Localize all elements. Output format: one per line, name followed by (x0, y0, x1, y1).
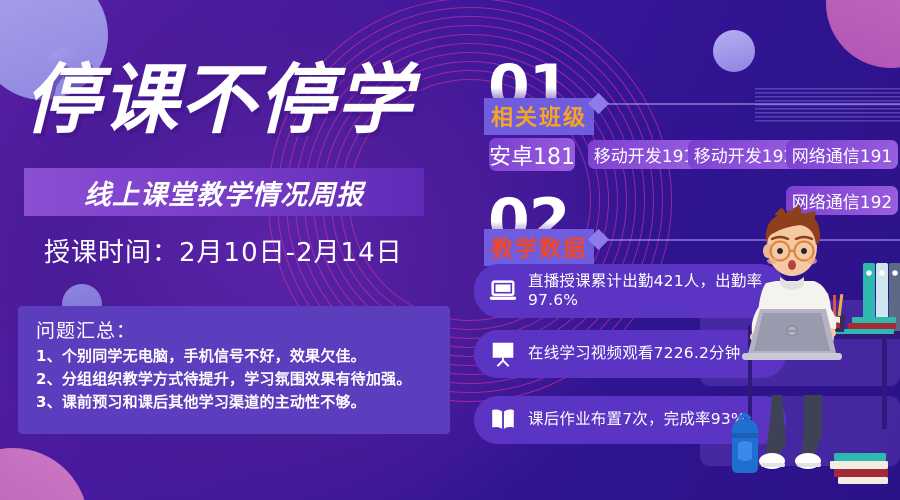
problem-summary-heading: 问题汇总： (36, 316, 434, 343)
divider-line-01 (608, 103, 900, 105)
metric-text: 课后作业布置7次，完成率93% (528, 410, 746, 429)
list-item: 1、个别同学无电脑，手机信号不好，效果欠佳。 (36, 345, 434, 368)
metric-text: 在线学习视频观看7226.2分钟 (528, 344, 740, 363)
projector-screen-icon (488, 339, 518, 369)
list-item: 2、分组组织教学方式待提升，学习氛围效果有待加强。 (36, 368, 434, 391)
circle-decoration-bottom-left-pink (0, 448, 88, 500)
section-label-02: 教学数据 (484, 229, 594, 266)
date-range-text: 授课时间：2月10日-2月14日 (44, 232, 403, 269)
poster-canvas: 停课不停学 线上课堂教学情况周报 授课时间：2月10日-2月14日 问题汇总： … (0, 0, 900, 500)
class-tag[interactable]: 网络通信191 (786, 140, 898, 169)
student-at-desk-illustration (730, 205, 900, 500)
list-item: 3、课前预习和课后其他学习渠道的主动性不够。 (36, 391, 434, 414)
class-tag[interactable]: 移动开发192 (688, 140, 800, 169)
circle-decoration-top-right (713, 30, 755, 72)
problem-summary-list: 1、个别同学无电脑，手机信号不好，效果欠佳。 2、分组组织教学方式待提升，学习氛… (36, 345, 434, 413)
page-title: 停课不停学 (24, 62, 414, 138)
laptop-icon (488, 276, 518, 306)
section-label-01: 相关班级 (484, 98, 594, 135)
circle-decoration-top-right-pink (826, 0, 900, 68)
open-book-icon (488, 405, 518, 435)
subtitle-text: 线上课堂教学情况周报 (84, 173, 364, 212)
subtitle-band: 线上课堂教学情况周报 (24, 168, 424, 216)
stripe-pattern-decoration (755, 88, 900, 122)
class-tag[interactable]: 移动开发191 (588, 140, 700, 169)
class-tag[interactable]: 安卓181 (489, 138, 575, 171)
problem-summary-box: 问题汇总： 1、个别同学无电脑，手机信号不好，效果欠佳。 2、分组组织教学方式待… (18, 306, 450, 434)
